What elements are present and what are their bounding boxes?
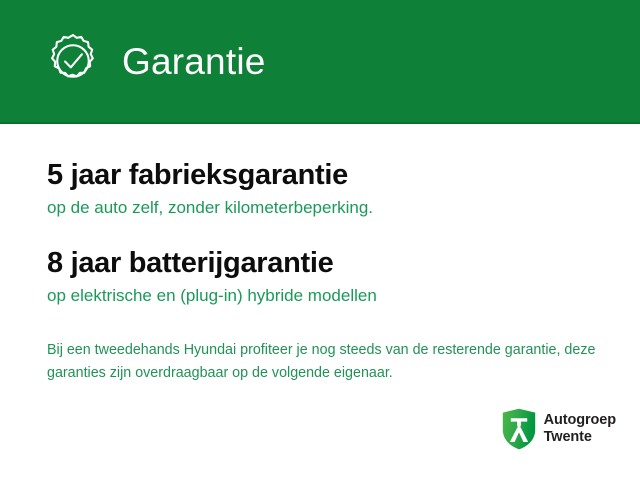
autogroep-twente-shield-icon bbox=[502, 408, 536, 450]
warranty-heading: 5 jaar fabrieksgarantie bbox=[47, 159, 600, 191]
warranty-banner: Garantie 5 jaar fabrieksgarantie op de a… bbox=[0, 0, 640, 480]
logo-line-1: Autogroep bbox=[544, 412, 616, 429]
logo-line-2: Twente bbox=[544, 429, 616, 446]
logo-wordmark: Autogroep Twente bbox=[544, 412, 616, 446]
page-title: Garantie bbox=[122, 43, 266, 80]
banner-header: Garantie bbox=[0, 0, 640, 122]
warranty-block-battery: 8 jaar batterijgarantie op elektrische e… bbox=[47, 220, 600, 308]
verified-badge-icon bbox=[44, 32, 102, 90]
warranty-heading: 8 jaar batterijgarantie bbox=[47, 247, 600, 279]
warranty-subtitle: op de auto zelf, zonder kilometerbeperki… bbox=[47, 197, 600, 219]
warranty-block-factory: 5 jaar fabrieksgarantie op de auto zelf,… bbox=[47, 124, 600, 220]
transferability-note: Bij een tweedehands Hyundai profiteer je… bbox=[47, 307, 600, 385]
warranty-subtitle: op elektrische en (plug-in) hybride mode… bbox=[47, 285, 600, 307]
autogroep-twente-logo: Autogroep Twente bbox=[502, 408, 616, 450]
banner-content: 5 jaar fabrieksgarantie op de auto zelf,… bbox=[0, 124, 640, 385]
